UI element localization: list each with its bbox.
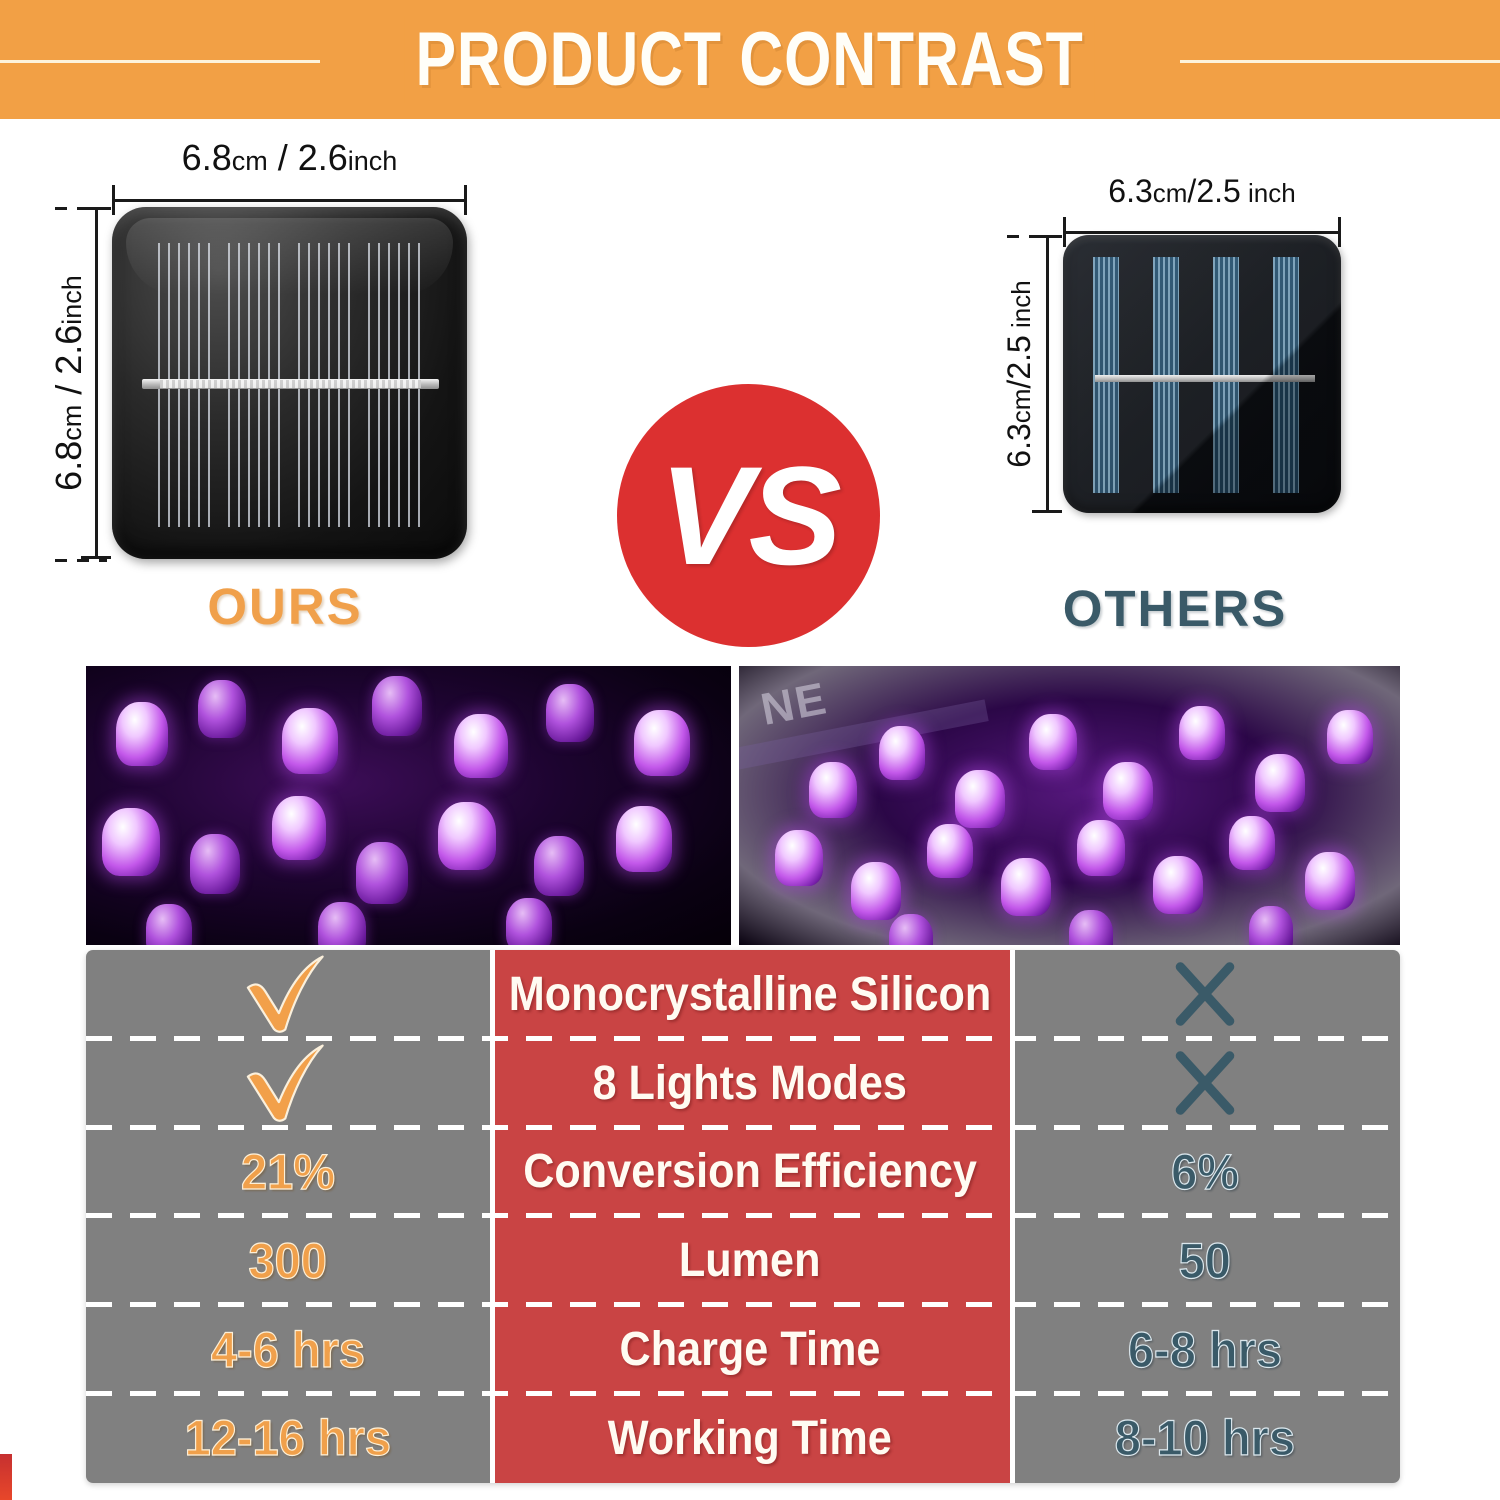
check-icon	[242, 953, 334, 1035]
ours-cell: 4-6 hrs	[86, 1305, 490, 1394]
table-row: 4-6 hrs Charge Time 6-8 hrs	[86, 1305, 1400, 1394]
product-compare-section: 6.8cm / 2.6inch 6.8cm / 2.6inch	[0, 119, 1500, 659]
ours-panel-gloss	[126, 218, 453, 295]
ours-width-inch-unit: inch	[348, 146, 398, 176]
others-brand-label: OTHERS	[975, 579, 1375, 638]
feature-label: Working Time	[608, 1411, 892, 1466]
ours-height-label: 6.8cm / 2.6inch	[48, 275, 90, 491]
others-height-dimension: 6.3cm/2.5 inch	[1020, 235, 1054, 513]
feature-cell: Working Time	[490, 1394, 1010, 1483]
feature-label: Lumen	[679, 1233, 821, 1288]
others-cell	[1010, 950, 1400, 1039]
feature-label: Monocrystalline Silicon	[509, 967, 991, 1022]
table-row: 8 Lights Modes	[86, 1039, 1400, 1128]
others-height-cm-unit: cm	[1006, 389, 1036, 424]
ours-cell: 21%	[86, 1128, 490, 1217]
others-width-inch-value: 2.5	[1196, 173, 1240, 209]
led-photo-row: NE	[86, 666, 1400, 945]
row-divider	[86, 1125, 1400, 1130]
ours-brand-label: OURS	[55, 577, 515, 636]
ours-width-label: 6.8cm / 2.6inch	[112, 137, 467, 179]
ours-value: 4-6 hrs	[211, 1321, 365, 1379]
others-height-cm-value: 6.3	[1001, 423, 1037, 467]
others-cell: 6%	[1010, 1128, 1400, 1217]
others-value: 50	[1179, 1232, 1231, 1290]
others-cell: 8-10 hrs	[1010, 1394, 1400, 1483]
ours-solar-panel-image	[112, 207, 467, 559]
feature-label: 8 Lights Modes	[593, 1056, 907, 1111]
ours-width-inch-value: 2.6	[298, 137, 348, 178]
banner-rule-right	[1180, 60, 1500, 63]
ours-cell: 12-16 hrs	[86, 1394, 490, 1483]
row-divider	[86, 1213, 1400, 1218]
others-height-inch-unit: inch	[1006, 280, 1036, 335]
others-value: 6%	[1171, 1143, 1239, 1201]
comparison-table: Monocrystalline Silicon 8 Lights Modes	[86, 950, 1400, 1483]
cross-icon	[1168, 957, 1242, 1031]
ours-led-photo	[86, 666, 731, 945]
others-width-dimension: 6.3cm/2.5 inch	[1063, 205, 1341, 239]
vs-label: VS	[659, 435, 838, 597]
others-product-block: 6.3cm/2.5 inch 6.3cm/2.5 inch	[975, 179, 1375, 649]
cross-icon	[1168, 1046, 1242, 1120]
feature-cell: Charge Time	[490, 1305, 1010, 1394]
ours-width-sep: /	[268, 137, 298, 178]
others-cell	[1010, 1039, 1400, 1128]
others-value: 6-8 hrs	[1128, 1321, 1282, 1379]
others-dash-tick-top	[1007, 235, 1053, 238]
ours-dash-tick-top	[55, 207, 107, 210]
others-cell: 6-8 hrs	[1010, 1305, 1400, 1394]
row-divider	[86, 1036, 1400, 1041]
ours-cell	[86, 950, 490, 1039]
others-width-inch-unit: inch	[1241, 178, 1296, 208]
row-divider	[86, 1391, 1400, 1396]
others-height-inch-value: 2.5	[1001, 335, 1037, 379]
ours-cell	[86, 1039, 490, 1128]
vs-badge: VS	[617, 384, 880, 647]
check-icon	[242, 1042, 334, 1124]
others-led-photo: NE	[739, 666, 1400, 945]
ours-height-inch-unit: inch	[57, 275, 87, 325]
ours-height-inch-value: 2.6	[48, 325, 89, 375]
ours-height-sep: /	[48, 375, 89, 405]
ours-value: 300	[249, 1232, 327, 1290]
others-height-line	[1046, 235, 1049, 513]
others-height-sep: /	[1001, 380, 1037, 389]
others-panel-shadow	[1063, 235, 1341, 513]
photo-overlay-text: NE	[757, 672, 832, 736]
ours-value: 12-16 hrs	[185, 1409, 391, 1467]
ours-dash-tick-bottom	[55, 559, 107, 562]
others-width-sep: /	[1187, 173, 1196, 209]
others-width-cm-value: 6.3	[1108, 173, 1152, 209]
table-row: Monocrystalline Silicon	[86, 950, 1400, 1039]
others-cell: 50	[1010, 1216, 1400, 1305]
ours-height-line	[95, 207, 98, 559]
ours-width-cm-unit: cm	[232, 146, 268, 176]
ours-cell: 300	[86, 1216, 490, 1305]
others-width-label: 6.3cm/2.5 inch	[1063, 173, 1341, 210]
ours-height-cm-value: 6.8	[48, 441, 89, 491]
table-divider-right	[1010, 950, 1015, 1483]
ours-value: 21%	[241, 1143, 335, 1201]
row-divider	[86, 1302, 1400, 1307]
ours-product-block: 6.8cm / 2.6inch 6.8cm / 2.6inch	[55, 149, 515, 649]
ours-width-cm-value: 6.8	[182, 137, 232, 178]
feature-cell: Conversion Efficiency	[490, 1128, 1010, 1217]
feature-label: Conversion Efficiency	[523, 1144, 977, 1199]
table-row: 12-16 hrs Working Time 8-10 hrs	[86, 1394, 1400, 1483]
feature-cell: Lumen	[490, 1216, 1010, 1305]
ours-panel-busbar	[142, 379, 439, 389]
others-height-label: 6.3cm/2.5 inch	[1001, 280, 1038, 467]
ours-width-dimension: 6.8cm / 2.6inch	[112, 173, 467, 207]
others-width-line	[1063, 231, 1341, 234]
others-solar-panel-image	[1063, 235, 1341, 513]
others-width-cm-unit: cm	[1153, 178, 1188, 208]
others-value: 8-10 hrs	[1115, 1409, 1295, 1467]
ours-height-dimension: 6.8cm / 2.6inch	[69, 207, 103, 559]
feature-cell: Monocrystalline Silicon	[490, 950, 1010, 1039]
table-row: 21% Conversion Efficiency 6%	[86, 1128, 1400, 1217]
table-row: 300 Lumen 50	[86, 1216, 1400, 1305]
banner-rule-left	[0, 60, 320, 63]
feature-cell: 8 Lights Modes	[490, 1039, 1010, 1128]
ours-height-cm-unit: cm	[57, 405, 87, 441]
image-edge-artifact	[0, 1454, 12, 1500]
feature-label: Charge Time	[620, 1322, 881, 1377]
ours-width-line	[112, 199, 467, 202]
page-title: PRODUCT CONTRAST	[405, 16, 1095, 103]
table-divider-left	[490, 950, 495, 1483]
header-banner: PRODUCT CONTRAST	[0, 0, 1500, 119]
